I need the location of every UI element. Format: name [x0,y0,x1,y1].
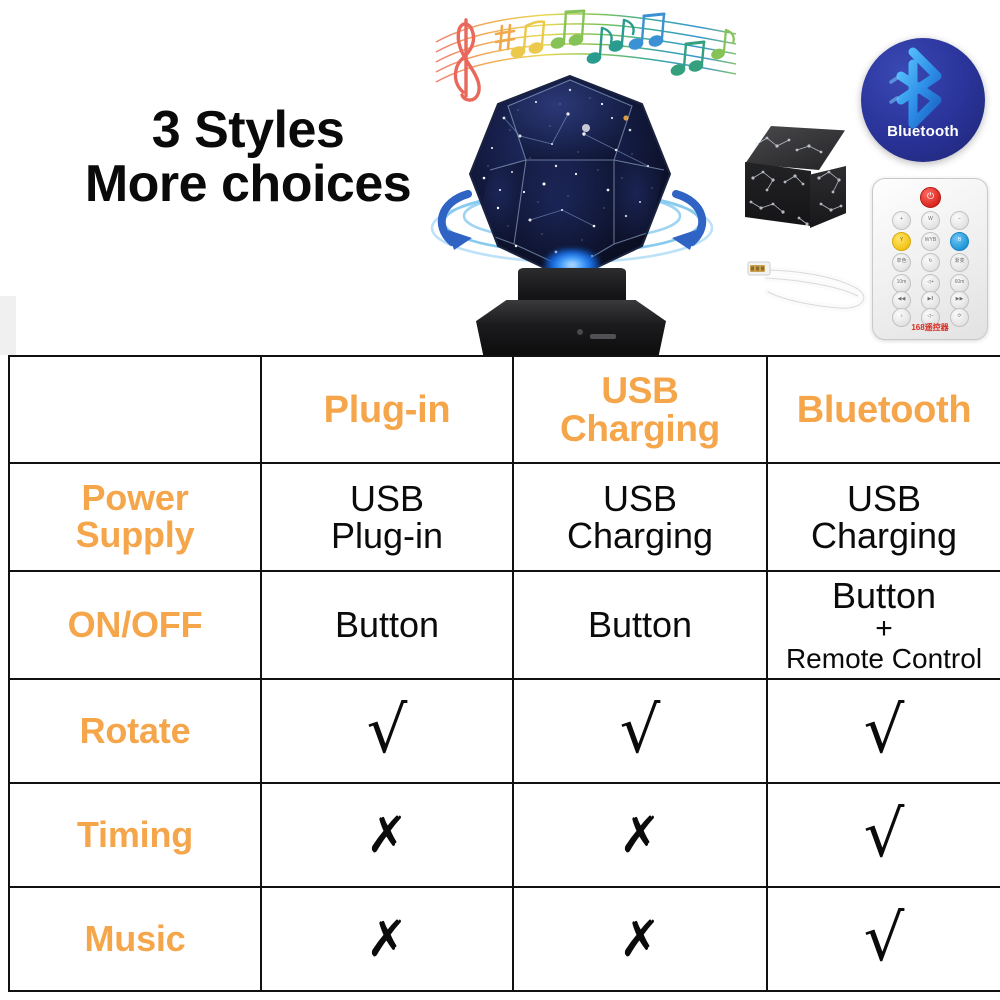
cell-rotate-usb: √ [513,679,767,783]
row-label-line-1: Music [10,921,260,958]
cell-music-usb: ✗ [513,887,767,991]
feature-comparison-table: Plug-in USB Charging Bluetooth Power Sup… [8,355,1000,992]
header-cell-usb-charging: USB Charging [513,356,767,463]
header-label-usb-charging-line1: USB [514,372,766,410]
star-projector-lamp-icon [440,72,702,355]
header-cell-empty [9,356,261,463]
remote-button-plus: + [892,211,911,230]
cell-line-3: Remote Control [768,644,1000,673]
row-label-timing: Timing [9,783,261,887]
remote-power-button: ⏻ [920,187,941,208]
row-label-line-1: ON/OFF [10,607,260,644]
cell-line-1: Button [514,606,766,643]
remote-button-b: B [950,232,969,251]
left-edge-band [0,296,16,355]
row-label-line-1: Power [10,480,260,517]
cell-onoff-plugin: Button [261,571,513,679]
cross-icon: ✗ [262,914,512,964]
cell-line-1: USB [768,480,1000,517]
remote-button-y: Y [892,232,911,251]
row-label-power-supply: Power Supply [9,463,261,571]
constellation-gift-box-icon [737,126,855,238]
table-row-onoff: ON/OFF Button Button Button + Remote Con… [9,571,1000,679]
bluetooth-icon [861,38,985,162]
row-label-line-2: Supply [10,517,260,554]
check-icon: √ [262,699,512,763]
headline-line-2: More choices [48,157,448,211]
cross-icon: ✗ [514,914,766,964]
bluetooth-badge: Bluetooth [861,38,985,162]
cell-line-1: USB [514,480,766,517]
cell-music-plugin: ✗ [261,887,513,991]
headline-line-1: 3 Styles [48,103,448,157]
remote-control-icon: ⏻ + W − Y WYB B 单色 ↻ 渐变 10m ◁+ 60m ◀◀ ▶‖… [872,178,988,340]
table-header-row: Plug-in USB Charging Bluetooth [9,356,1000,463]
cell-line-1: Button [262,606,512,643]
cross-icon: ✗ [514,810,766,860]
header-cell-bluetooth: Bluetooth [767,356,1000,463]
row-label-rotate: Rotate [9,679,261,783]
cell-timing-plugin: ✗ [261,783,513,887]
header-label-plugin: Plug-in [262,391,512,429]
check-icon: √ [514,699,766,763]
remote-model-label: 168遥控器 [873,322,987,333]
cell-line-1: USB [262,480,512,517]
header-cell-plugin: Plug-in [261,356,513,463]
remote-button-fade: 渐变 [950,253,969,272]
row-label-music: Music [9,887,261,991]
check-icon: √ [768,803,1000,867]
header-label-bluetooth: Bluetooth [768,391,1000,429]
lamp-base [476,300,666,355]
cell-line-1: Button [832,575,936,616]
usb-cable-icon [742,248,884,320]
remote-button-solid: 单色 [892,253,911,272]
remote-button-minus: − [950,211,969,230]
table-row-timing: Timing ✗ ✗ √ [9,783,1000,887]
cell-onoff-bluetooth: Button + Remote Control [767,571,1000,679]
header-label-usb-charging-line2: Charging [514,410,766,448]
hero-section: 3 Styles More choices [0,0,1000,355]
cell-timing-usb: ✗ [513,783,767,887]
cell-rotate-plugin: √ [261,679,513,783]
power-button [577,329,583,335]
row-label-line-1: Timing [10,817,260,854]
table-row-power-supply: Power Supply USB Plug-in USB Charging US… [9,463,1000,571]
cell-power-bluetooth: USB Charging [767,463,1000,571]
cell-line-2: Plug-in [262,517,512,554]
bluetooth-badge-label: Bluetooth [861,123,985,140]
cell-line-2: Charging [768,517,1000,554]
check-icon: √ [768,699,1000,763]
cell-power-plugin: USB Plug-in [261,463,513,571]
cell-rotate-bluetooth: √ [767,679,1000,783]
page-title: 3 Styles More choices [48,103,448,211]
cell-line-2: + [768,614,1000,644]
check-icon: √ [768,907,1000,971]
product-comparison-page: 3 Styles More choices [0,0,1000,1000]
cell-line-2: Charging [514,517,766,554]
row-label-onoff: ON/OFF [9,571,261,679]
cell-music-bluetooth: √ [767,887,1000,991]
table-row-rotate: Rotate √ √ √ [9,679,1000,783]
remote-button-rotate: ↻ [921,253,940,272]
table-row-music: Music ✗ ✗ √ [9,887,1000,991]
cell-onoff-usb: Button [513,571,767,679]
usb-port [590,334,616,339]
row-label-line-1: Rotate [10,713,260,750]
constellation-print [737,126,855,238]
remote-button-wyb: WYB [921,232,940,251]
cell-power-usb: USB Charging [513,463,767,571]
remote-button-w: W [921,211,940,230]
cross-icon: ✗ [262,810,512,860]
cell-timing-bluetooth: √ [767,783,1000,887]
